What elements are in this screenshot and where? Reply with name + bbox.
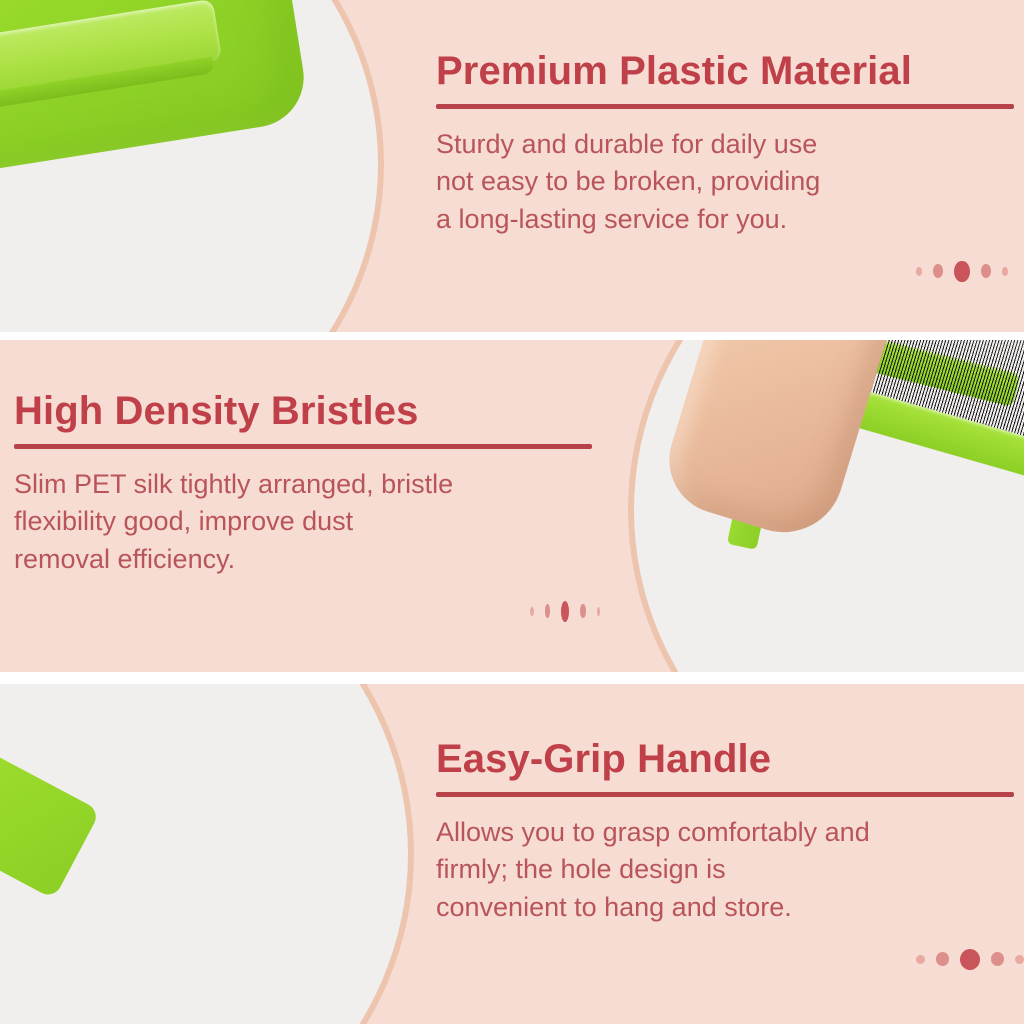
handle-tail [0,741,101,900]
panel-body-line: Allows you to grasp comfortably and [436,814,1024,852]
panel-heading: Easy-Grip Handle [436,738,1024,780]
photo-circle-mask [634,340,1024,672]
dustpan-image [0,0,378,332]
decorative-dots [530,601,600,622]
panel-heading: High Density Bristles [14,390,600,432]
panel-heading: Premium Plastic Material [436,50,1008,92]
panel-body-line: a long-lasting service for you. [436,201,1008,239]
decorative-dots [916,949,1024,970]
dot-medium [991,952,1004,966]
feature-text-easy-grip-handle: Easy-Grip Handle Allows you to grasp com… [428,684,1024,1024]
dot-medium [545,604,550,618]
panel-body-line: not easy to be broken, providing [436,163,1008,201]
hand-thumb [656,340,911,547]
dot-small [1015,955,1024,964]
infographic-sheet: Premium Plastic Material Sturdy and dura… [0,0,1024,1024]
product-photo-dustpan [0,0,430,332]
handle-image [0,684,408,1024]
dot-small [916,955,925,964]
photo-circle-mask [0,684,408,1024]
dot-large [960,949,980,970]
dot-large [561,601,569,622]
bristles-image [634,340,1024,672]
feature-panel-high-density-bristles: High Density Bristles Slim PET silk tigh… [0,340,1024,672]
panel-body-line: removal efficiency. [14,541,600,579]
dot-medium [936,952,949,966]
heading-underline [436,104,1014,109]
photo-circle-mask [0,0,378,332]
feature-panel-premium-plastic-material: Premium Plastic Material Sturdy and dura… [0,0,1024,332]
dot-small [916,267,922,276]
dot-large [954,261,969,282]
dot-medium [933,264,943,278]
panel-body-line: firmly; the hole design is [436,851,1024,889]
dot-small [530,607,534,616]
product-photo-handle [0,684,430,1024]
product-photo-bristles [594,340,1024,672]
feature-text-premium-plastic-material: Premium Plastic Material Sturdy and dura… [428,0,1024,332]
panel-body-line: Sturdy and durable for daily use [436,126,1008,164]
heading-underline [436,792,1014,797]
decorative-dots [916,261,1008,282]
panel-body-line: flexibility good, improve dust [14,503,600,541]
dot-small [1002,267,1008,276]
feature-text-high-density-bristles: High Density Bristles Slim PET silk tigh… [0,340,600,672]
panel-body-line: Slim PET silk tightly arranged, bristle [14,466,600,504]
dot-medium [580,604,585,618]
panel-body-line: convenient to hang and store. [436,889,1024,927]
feature-panel-easy-grip-handle: Easy-Grip Handle Allows you to grasp com… [0,684,1024,1024]
heading-underline [14,444,592,449]
dot-medium [981,264,991,278]
